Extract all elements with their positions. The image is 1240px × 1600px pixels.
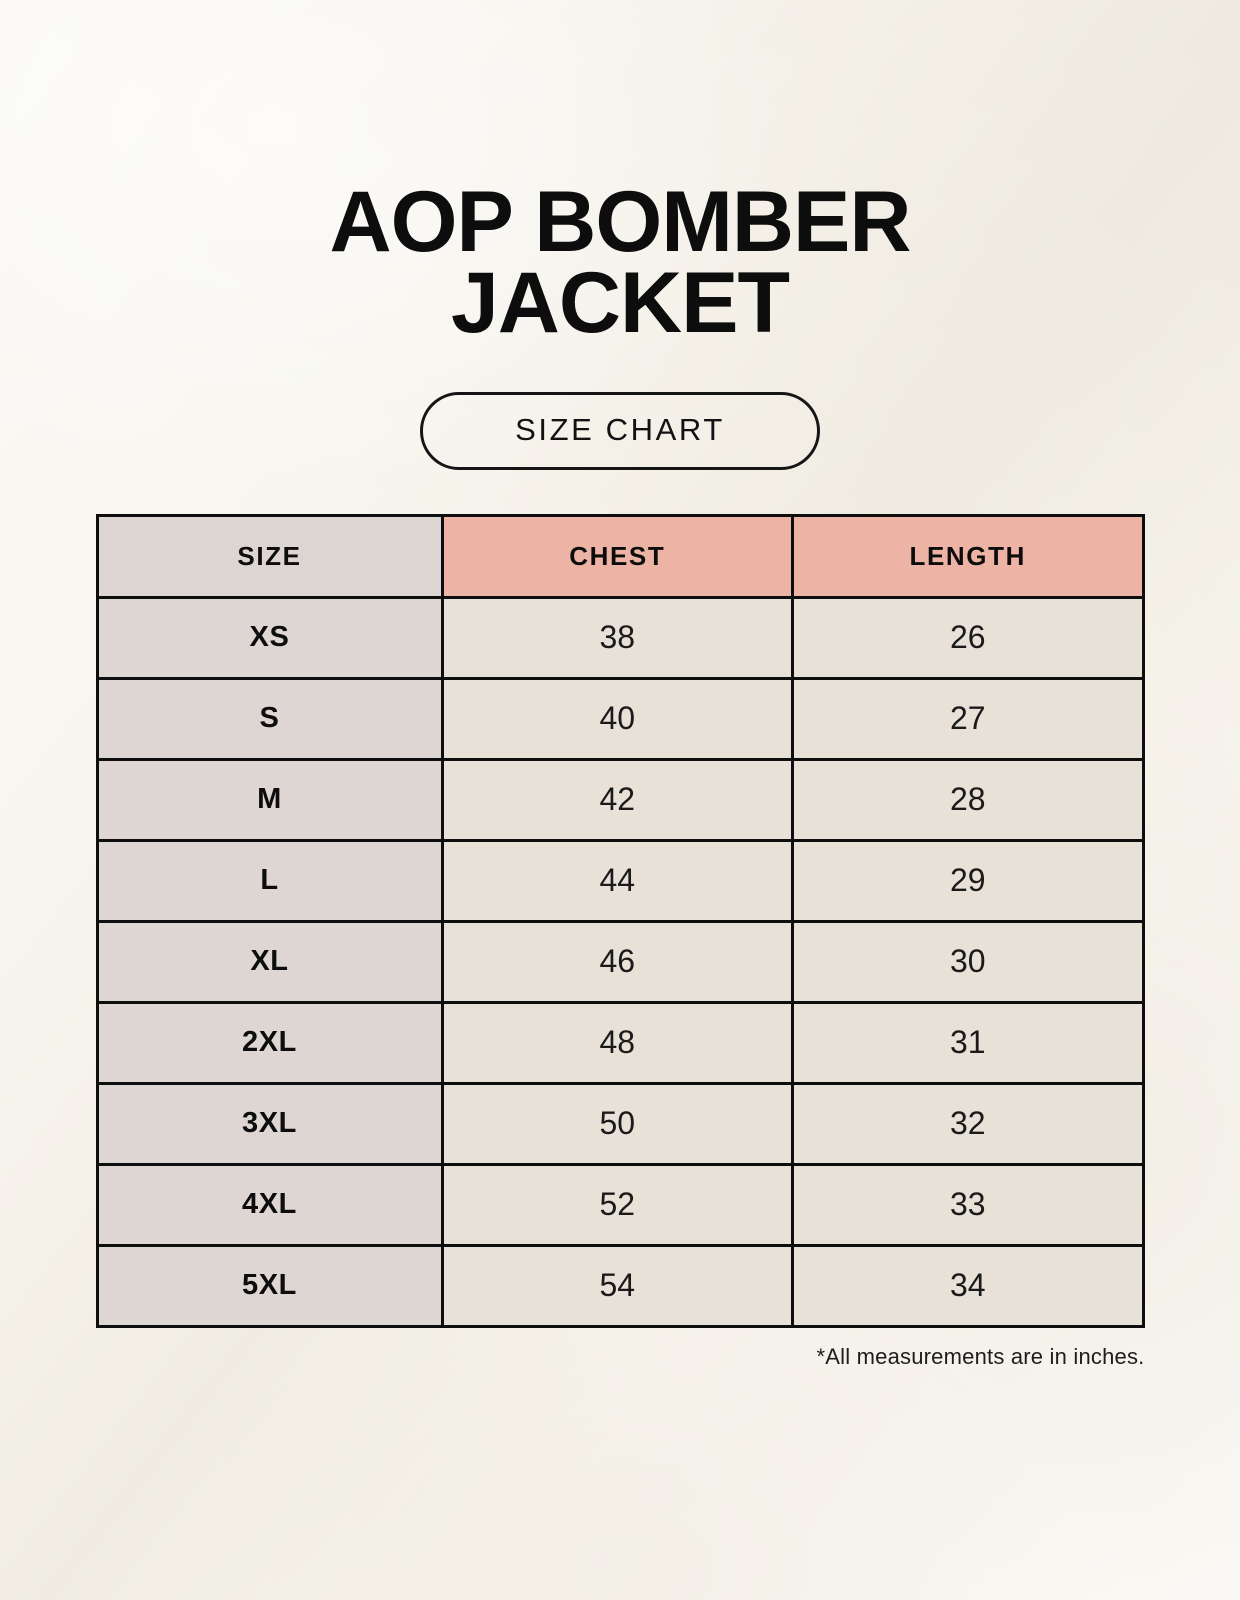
size-table-wrapper: SIZE CHEST LENGTH XS3826S4027M4228L4429X… — [96, 514, 1145, 1328]
cell-size: 3XL — [97, 1083, 442, 1164]
cell-size: M — [97, 759, 442, 840]
table-row: XL4630 — [97, 921, 1143, 1002]
measurement-note: *All measurements are in inches. — [96, 1344, 1145, 1370]
cell-chest: 42 — [442, 759, 793, 840]
table-row: L4429 — [97, 840, 1143, 921]
cell-length: 32 — [793, 1083, 1144, 1164]
cell-chest: 54 — [442, 1245, 793, 1326]
cell-chest: 44 — [442, 840, 793, 921]
size-chart-page: AOP BOMBERJACKET SIZE CHART SIZE CHEST L… — [0, 0, 1240, 1600]
cell-size: 4XL — [97, 1164, 442, 1245]
cell-size: XS — [97, 597, 442, 678]
cell-chest: 40 — [442, 678, 793, 759]
cell-chest: 38 — [442, 597, 793, 678]
size-table-body: XS3826S4027M4228L4429XL46302XL48313XL503… — [97, 597, 1143, 1326]
cell-size: XL — [97, 921, 442, 1002]
table-row: 5XL5434 — [97, 1245, 1143, 1326]
cell-length: 26 — [793, 597, 1144, 678]
cell-length: 29 — [793, 840, 1144, 921]
table-row: S4027 — [97, 678, 1143, 759]
cell-length: 31 — [793, 1002, 1144, 1083]
cell-length: 28 — [793, 759, 1144, 840]
column-header-length: LENGTH — [793, 515, 1144, 597]
title-block: AOP BOMBERJACKET — [0, 0, 1240, 344]
cell-length: 30 — [793, 921, 1144, 1002]
size-chart-badge: SIZE CHART — [420, 392, 820, 470]
table-row: 3XL5032 — [97, 1083, 1143, 1164]
table-row: M4228 — [97, 759, 1143, 840]
cell-length: 34 — [793, 1245, 1144, 1326]
table-row: 4XL5233 — [97, 1164, 1143, 1245]
cell-length: 27 — [793, 678, 1144, 759]
page-title: AOP BOMBERJACKET — [0, 182, 1240, 344]
badge-wrapper: SIZE CHART — [0, 392, 1240, 470]
cell-chest: 50 — [442, 1083, 793, 1164]
cell-size: 2XL — [97, 1002, 442, 1083]
cell-size: S — [97, 678, 442, 759]
cell-chest: 52 — [442, 1164, 793, 1245]
cell-size: L — [97, 840, 442, 921]
column-header-chest: CHEST — [442, 515, 793, 597]
size-table: SIZE CHEST LENGTH XS3826S4027M4228L4429X… — [96, 514, 1145, 1328]
cell-chest: 48 — [442, 1002, 793, 1083]
cell-size: 5XL — [97, 1245, 442, 1326]
table-row: 2XL4831 — [97, 1002, 1143, 1083]
size-table-header: SIZE CHEST LENGTH — [97, 515, 1143, 597]
table-row: XS3826 — [97, 597, 1143, 678]
column-header-size: SIZE — [97, 515, 442, 597]
cell-chest: 46 — [442, 921, 793, 1002]
table-header-row: SIZE CHEST LENGTH — [97, 515, 1143, 597]
cell-length: 33 — [793, 1164, 1144, 1245]
